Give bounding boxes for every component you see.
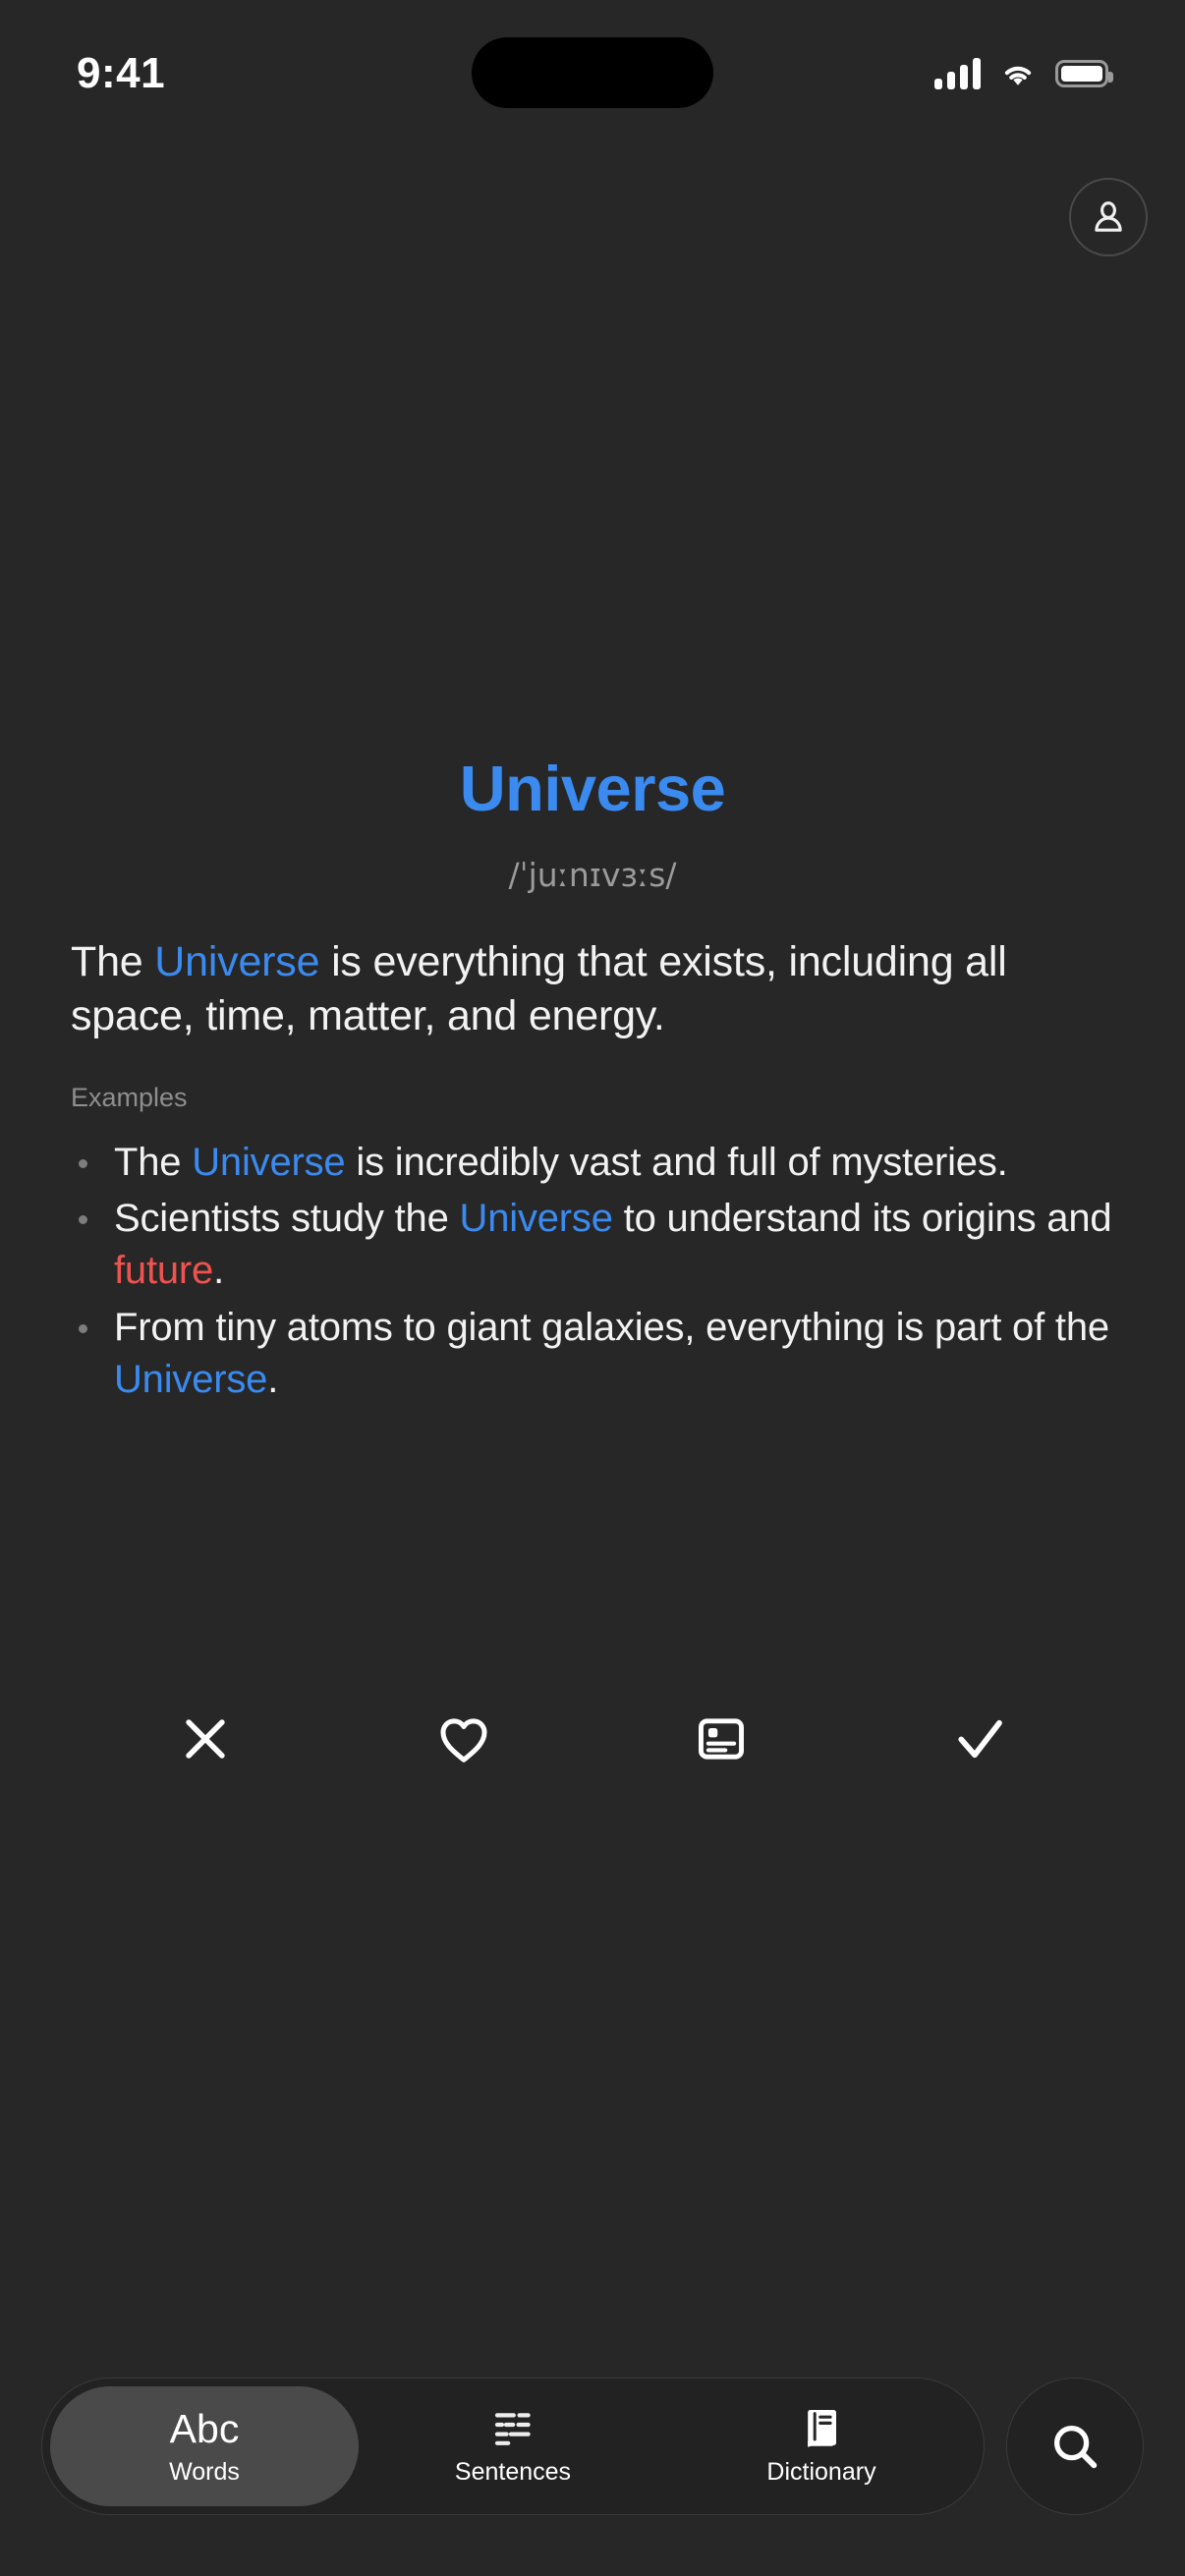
phonetic-transcription: /ˈjuːnɪvɜːs/ bbox=[71, 856, 1114, 894]
search-button[interactable] bbox=[1006, 2378, 1144, 2515]
example-item: From tiny atoms to giant galaxies, every… bbox=[71, 1302, 1114, 1406]
text-fragment: . bbox=[213, 1249, 224, 1292]
wifi-icon bbox=[999, 59, 1037, 88]
example-item: Scientists study the Universe to underst… bbox=[71, 1193, 1114, 1297]
close-x-icon bbox=[177, 1710, 234, 1767]
nav-item-sentences[interactable]: Sentences bbox=[359, 2386, 667, 2506]
examples-list: The Universe is incredibly vast and full… bbox=[71, 1137, 1114, 1406]
examples-label: Examples bbox=[71, 1083, 1114, 1113]
profile-avatar-button[interactable] bbox=[1069, 178, 1148, 256]
book-icon bbox=[802, 2406, 841, 2451]
highlighted-term: Universe bbox=[192, 1141, 345, 1184]
text-fragment: Scientists study the bbox=[114, 1197, 460, 1240]
status-bar-time: 9:41 bbox=[77, 49, 332, 98]
abc-icon-text: Abc bbox=[170, 2409, 240, 2449]
known-button[interactable] bbox=[851, 1685, 1109, 1793]
dismiss-button[interactable] bbox=[77, 1685, 335, 1793]
battery-full-icon bbox=[1055, 60, 1108, 87]
cellular-signal-icon bbox=[934, 58, 981, 89]
flashcard-button[interactable] bbox=[592, 1685, 851, 1793]
abc-icon: Abc bbox=[170, 2406, 240, 2451]
highlighted-term: future bbox=[114, 1249, 213, 1292]
check-icon bbox=[950, 1709, 1009, 1768]
nav-item-dictionary[interactable]: Dictionary bbox=[667, 2386, 976, 2506]
example-item: The Universe is incredibly vast and full… bbox=[71, 1137, 1114, 1189]
text-fragment: The bbox=[71, 938, 154, 985]
text-fragment: . bbox=[267, 1358, 278, 1401]
text-fragment: The bbox=[114, 1141, 192, 1184]
highlighted-term: Universe bbox=[460, 1197, 613, 1240]
highlighted-term: Universe bbox=[154, 938, 319, 985]
status-bar: 9:41 bbox=[0, 0, 1185, 147]
nav-label-dictionary: Dictionary bbox=[766, 2458, 875, 2487]
person-avatar-icon bbox=[1087, 196, 1130, 239]
nav-label-words: Words bbox=[169, 2458, 240, 2487]
action-row bbox=[0, 1685, 1185, 1793]
word-card: Universe /ˈjuːnɪvɜːs/ The Universe is ev… bbox=[0, 756, 1185, 1410]
nav-label-sentences: Sentences bbox=[455, 2458, 571, 2487]
text-fragment: is incredibly vast and full of mysteries… bbox=[345, 1141, 1007, 1184]
bottom-navigation: Abc Words Sentences bbox=[0, 2378, 1185, 2515]
text-lines-icon bbox=[491, 2406, 535, 2451]
word-definition: The Universe is everything that exists, … bbox=[71, 935, 1114, 1043]
highlighted-term: Universe bbox=[114, 1358, 267, 1401]
nav-pill: Abc Words Sentences bbox=[41, 2378, 985, 2515]
heart-icon bbox=[434, 1709, 493, 1768]
dynamic-island bbox=[472, 37, 713, 108]
status-bar-indicators bbox=[934, 58, 1108, 89]
search-icon bbox=[1046, 2418, 1103, 2475]
word-title: Universe bbox=[71, 756, 1114, 820]
favorite-button[interactable] bbox=[335, 1685, 593, 1793]
text-fragment: From tiny atoms to giant galaxies, every… bbox=[114, 1306, 1109, 1349]
flashcard-icon bbox=[694, 1711, 749, 1766]
app-screen: 9:41 Universe /ˈjuːnɪvɜːs/ The Universe … bbox=[0, 0, 1185, 2576]
text-fragment: to understand its origins and bbox=[613, 1197, 1112, 1240]
nav-item-words[interactable]: Abc Words bbox=[50, 2386, 359, 2506]
